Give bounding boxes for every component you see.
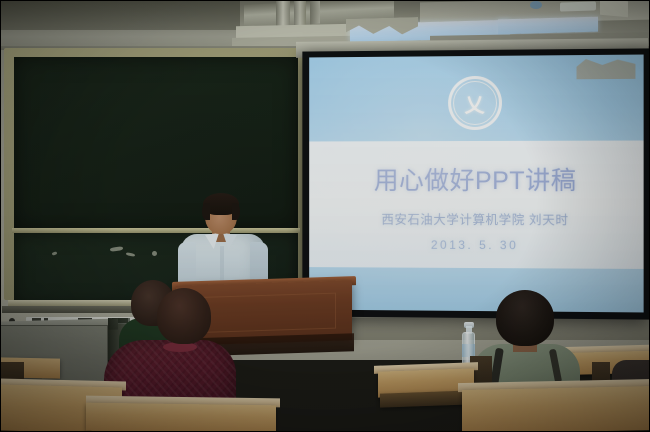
ceiling-slab-left [0,0,240,30]
slide-subtitle: 西安石油大学计算机学院 刘天时 [309,209,643,229]
ceiling-duct-icon [310,0,320,25]
student-desk [462,386,650,432]
projected-slide: 乂 用心做好PPT讲稿 西安石油大学计算机学院 刘天时 2013. 5. 30 [309,55,643,313]
university-emblem: 乂 [448,76,502,130]
lecture-hall-photo: 乂 用心做好PPT讲稿 西安石油大学计算机学院 刘天时 2013. 5. 30 [0,0,650,432]
slide-title: 用心做好PPT讲稿 [309,160,643,196]
audience-head-right [496,290,554,346]
chalk-mark [152,251,157,256]
audience-head-front-left [157,288,211,344]
ceiling-duct-icon [276,0,290,27]
desk-side-panel [380,390,472,407]
emblem-glyph-icon: 乂 [460,88,490,118]
ceiling-sensor-icon [530,1,542,9]
presenter-hair-side [202,203,210,220]
student-desk [86,403,276,432]
ceiling-duct-icon [294,0,306,27]
ceiling-bracket [600,0,628,17]
fluorescent-light-icon [498,17,598,35]
ceiling-vent-icon [560,1,596,11]
blackboard-upper-panel [14,57,298,229]
slide-date: 2013. 5. 30 [309,238,643,253]
presenter-hair-side [232,203,240,220]
slide-bottom-band [309,267,643,313]
